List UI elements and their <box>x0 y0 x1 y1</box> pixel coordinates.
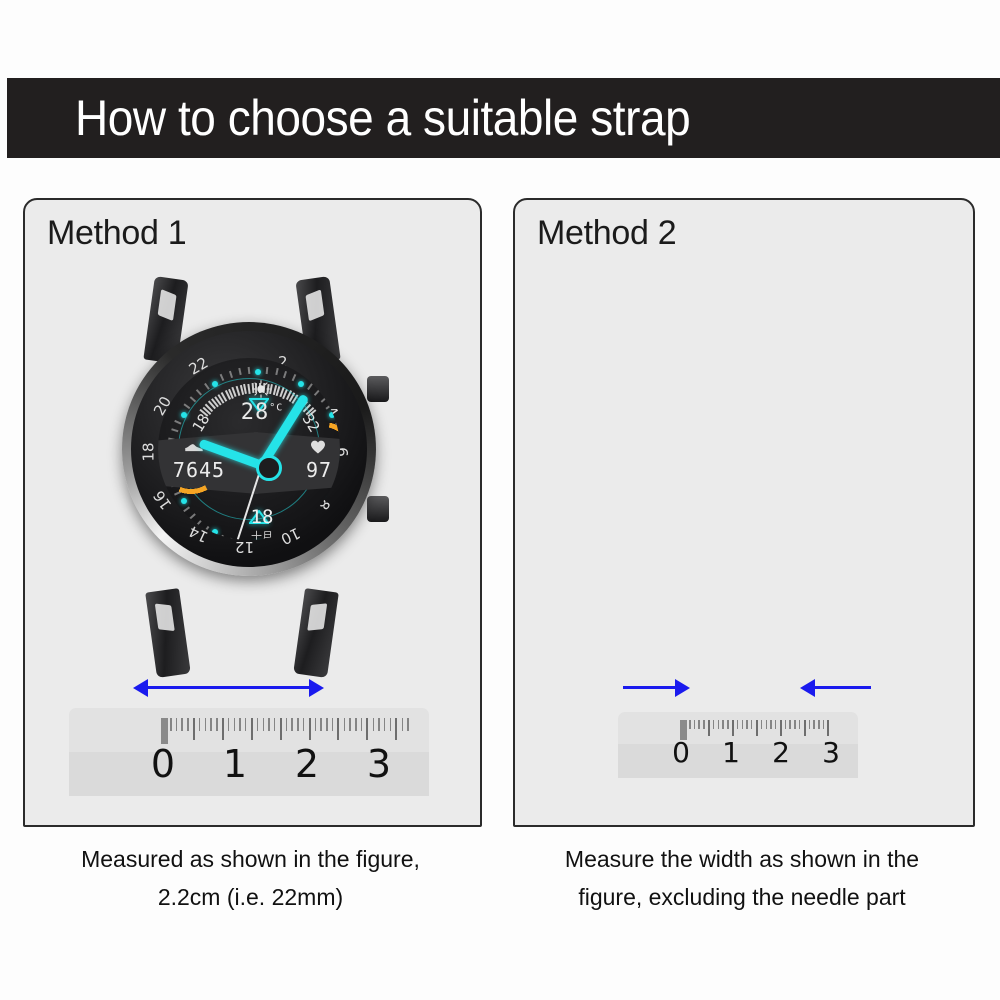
dial-hour-marker <box>329 412 335 418</box>
ruler-tick <box>818 720 820 729</box>
ruler-tick <box>355 718 357 731</box>
ruler-tick <box>326 718 328 731</box>
dial-minute-tick <box>189 514 195 520</box>
arrow-head-left-icon <box>800 679 815 697</box>
ruler-tick <box>297 718 299 731</box>
ruler-tick <box>268 718 270 731</box>
ruler-tick <box>228 718 230 731</box>
ruler-tick <box>384 718 386 731</box>
ruler-ticks <box>161 718 413 744</box>
ruler-tick <box>263 718 265 731</box>
method-1-panel: Method 1 2 4 6 <box>23 198 482 827</box>
ruler-tick <box>309 718 311 740</box>
date-day-value: 18 <box>228 506 296 528</box>
dial-minute-tick <box>307 526 312 533</box>
dial-minute-tick <box>314 520 320 526</box>
ruler-tick <box>732 720 734 736</box>
ruler-number-1: 1 <box>706 736 756 769</box>
dial-minute-tick <box>196 520 202 526</box>
heart-icon <box>310 440 326 454</box>
steps-value: 7645 <box>164 458 234 482</box>
method-2-title: Method 2 <box>537 214 676 253</box>
ruler-tick <box>708 720 710 736</box>
ruler-tick <box>823 720 825 729</box>
dial-minute-tick <box>283 371 287 378</box>
ruler-tick <box>698 720 700 729</box>
ruler-tick <box>766 720 768 729</box>
ruler-tick <box>286 718 288 731</box>
ruler-tick <box>780 720 782 736</box>
ruler-tick <box>775 720 777 729</box>
ruler-tick <box>813 720 815 729</box>
ruler-number-0: 0 <box>656 736 706 769</box>
method-1-caption-line-1: Measured as shown in the figure, <box>23 840 478 878</box>
dial-minute-tick <box>307 384 312 391</box>
dial-hour-marker <box>212 529 218 535</box>
ruler-tick <box>344 718 346 731</box>
ruler-method-2: 0 1 2 3 <box>618 712 858 778</box>
ruler-numbers: 0 1 2 3 <box>656 736 856 769</box>
method-2-caption-line-2: figure, excluding the needle part <box>513 878 971 916</box>
ruler-tick <box>187 718 189 731</box>
lug-notch <box>307 603 327 630</box>
ruler-tick <box>770 720 772 729</box>
dial-minute-tick <box>238 368 241 375</box>
ruler-tick <box>809 720 811 729</box>
ruler-tick <box>804 720 806 736</box>
method-1-caption-line-2: 2.2cm (i.e. 22mm) <box>23 878 478 916</box>
dial-hour-marker <box>298 381 304 387</box>
dial-minute-tick <box>174 420 181 424</box>
ruler-numbers: 0 1 2 3 <box>127 742 415 786</box>
ruler-tick <box>257 718 259 731</box>
dial-hour-marker <box>329 498 335 504</box>
method-2-caption: Measure the width as shown in the figure… <box>513 840 971 916</box>
ruler-tick <box>361 718 363 731</box>
title-banner: How to choose a suitable strap <box>7 78 1000 158</box>
dial-hour-marker <box>255 369 261 375</box>
method-1-title: Method 1 <box>47 214 186 253</box>
ruler-tick <box>722 720 724 729</box>
ruler-number-1: 1 <box>199 742 271 786</box>
watch-lug-bottom-left <box>145 588 191 678</box>
lug-notch <box>158 289 177 321</box>
watch-illustration: 2 4 6 8 10 12 14 16 18 20 22 1832 <box>105 278 405 678</box>
ruler-tick <box>274 718 276 731</box>
method-2-caption-line-1: Measure the width as shown in the <box>513 840 971 878</box>
ruler-tick <box>320 718 322 731</box>
hands-pivot <box>256 455 282 481</box>
ruler-tick <box>703 720 705 729</box>
ruler-tick <box>245 718 247 731</box>
dial-minute-tick <box>184 404 191 409</box>
watch-crown-button-upper <box>367 376 389 402</box>
temperature-value: 28 <box>241 400 270 425</box>
ruler-tick <box>827 720 829 736</box>
dial-minute-tick <box>292 374 296 381</box>
ruler-tick <box>727 720 729 729</box>
arrow-head-right-icon <box>675 679 690 697</box>
ruler-tick <box>756 720 758 736</box>
ruler-number-2: 2 <box>271 742 343 786</box>
ruler-tick <box>251 718 253 740</box>
dial-minute-tick <box>248 367 250 374</box>
ruler-tick <box>746 720 748 729</box>
dial-minute-tick <box>275 368 278 375</box>
ruler-tick <box>785 720 787 729</box>
ruler-tick <box>689 720 691 729</box>
method-2-panel: Method 2 HUAWEI <box>513 198 975 827</box>
dial-minute-tick <box>314 389 320 395</box>
dial-hour-marker <box>181 498 187 504</box>
ruler-tick <box>239 718 241 731</box>
ruler-method-1: 0 1 2 3 <box>69 708 429 796</box>
ruler-tick <box>402 718 404 731</box>
arrow-head-left-icon <box>133 679 148 697</box>
ruler-tick <box>713 720 715 729</box>
ruler-tick <box>742 720 744 729</box>
ruler-tick <box>751 720 753 729</box>
dial-minute-tick <box>220 535 224 540</box>
dial-minute-tick <box>204 384 209 391</box>
ruler-tick <box>193 718 195 740</box>
dial-minute-tick <box>335 492 340 496</box>
ruler-number-3: 3 <box>806 736 856 769</box>
ruler-tick <box>176 718 178 731</box>
ruler-tick <box>216 718 218 731</box>
ruler-tick <box>280 718 282 740</box>
dial-minute-tick <box>184 507 191 512</box>
ruler-number-3: 3 <box>343 742 415 786</box>
ruler-tick <box>332 718 334 731</box>
ruler-tick <box>337 718 339 740</box>
dial-minute-tick <box>220 374 224 381</box>
ruler-tick <box>789 720 791 729</box>
watch-bezel: 2 4 6 8 10 12 14 16 18 20 22 1832 <box>131 331 367 567</box>
dial-minute-tick <box>266 367 268 374</box>
bezel-number-18: 18 <box>140 442 158 461</box>
watch-dial: 1832 <box>158 358 340 540</box>
arrow-head-right-icon <box>309 679 324 697</box>
ruler-tick <box>291 718 293 731</box>
ruler-tick <box>395 718 397 740</box>
ruler-tick <box>181 718 183 731</box>
arrow-shaft-right <box>815 686 871 689</box>
dial-hour-marker <box>298 529 304 535</box>
ruler-tick <box>234 718 236 731</box>
ruler-tick <box>794 720 796 729</box>
ruler-tick <box>303 718 305 731</box>
ruler-number-0: 0 <box>127 742 199 786</box>
ruler-tick <box>199 718 201 731</box>
ruler-tick <box>761 720 763 729</box>
ruler-tick <box>315 718 317 731</box>
ruler-tick <box>694 720 696 729</box>
ruler-tick <box>373 718 375 731</box>
ruler-tick <box>366 718 368 740</box>
ruler-tick <box>222 718 224 740</box>
dial-minute-tick <box>320 396 326 402</box>
ruler-tick <box>390 718 392 731</box>
lug-notch <box>155 604 175 631</box>
page-title: How to choose a suitable strap <box>75 89 690 147</box>
ruler-tick <box>407 718 409 731</box>
ruler-tick <box>205 718 207 731</box>
watch-lug-bottom-right <box>293 588 339 678</box>
ruler-tick <box>210 718 212 731</box>
page-root: How to choose a suitable strap Method 1 <box>0 0 1000 1000</box>
watch-case: 2 4 6 8 10 12 14 16 18 20 22 1832 <box>122 322 376 576</box>
ruler-tick <box>349 718 351 731</box>
temperature-unit: °C <box>269 403 283 414</box>
method-1-caption: Measured as shown in the figure, 2.2cm (… <box>23 840 478 916</box>
ruler-tick <box>378 718 380 731</box>
ruler-tick-zero <box>161 718 168 744</box>
sun-icon <box>252 380 270 398</box>
bezel-number-12: 12 <box>235 538 254 556</box>
ruler-tick <box>799 720 801 729</box>
ruler-tick <box>718 720 720 729</box>
ruler-number-2: 2 <box>756 736 806 769</box>
ruler-tick <box>737 720 739 729</box>
ruler-tick <box>170 718 172 731</box>
lug-notch <box>305 289 324 321</box>
dial-minute-tick <box>229 371 233 378</box>
dial-minute-tick <box>320 514 326 520</box>
arrow-shaft <box>145 686 315 689</box>
arrow-shaft-left <box>623 686 679 689</box>
heart-rate-value: 97 <box>288 458 340 482</box>
watch-crown-button-lower <box>367 496 389 522</box>
